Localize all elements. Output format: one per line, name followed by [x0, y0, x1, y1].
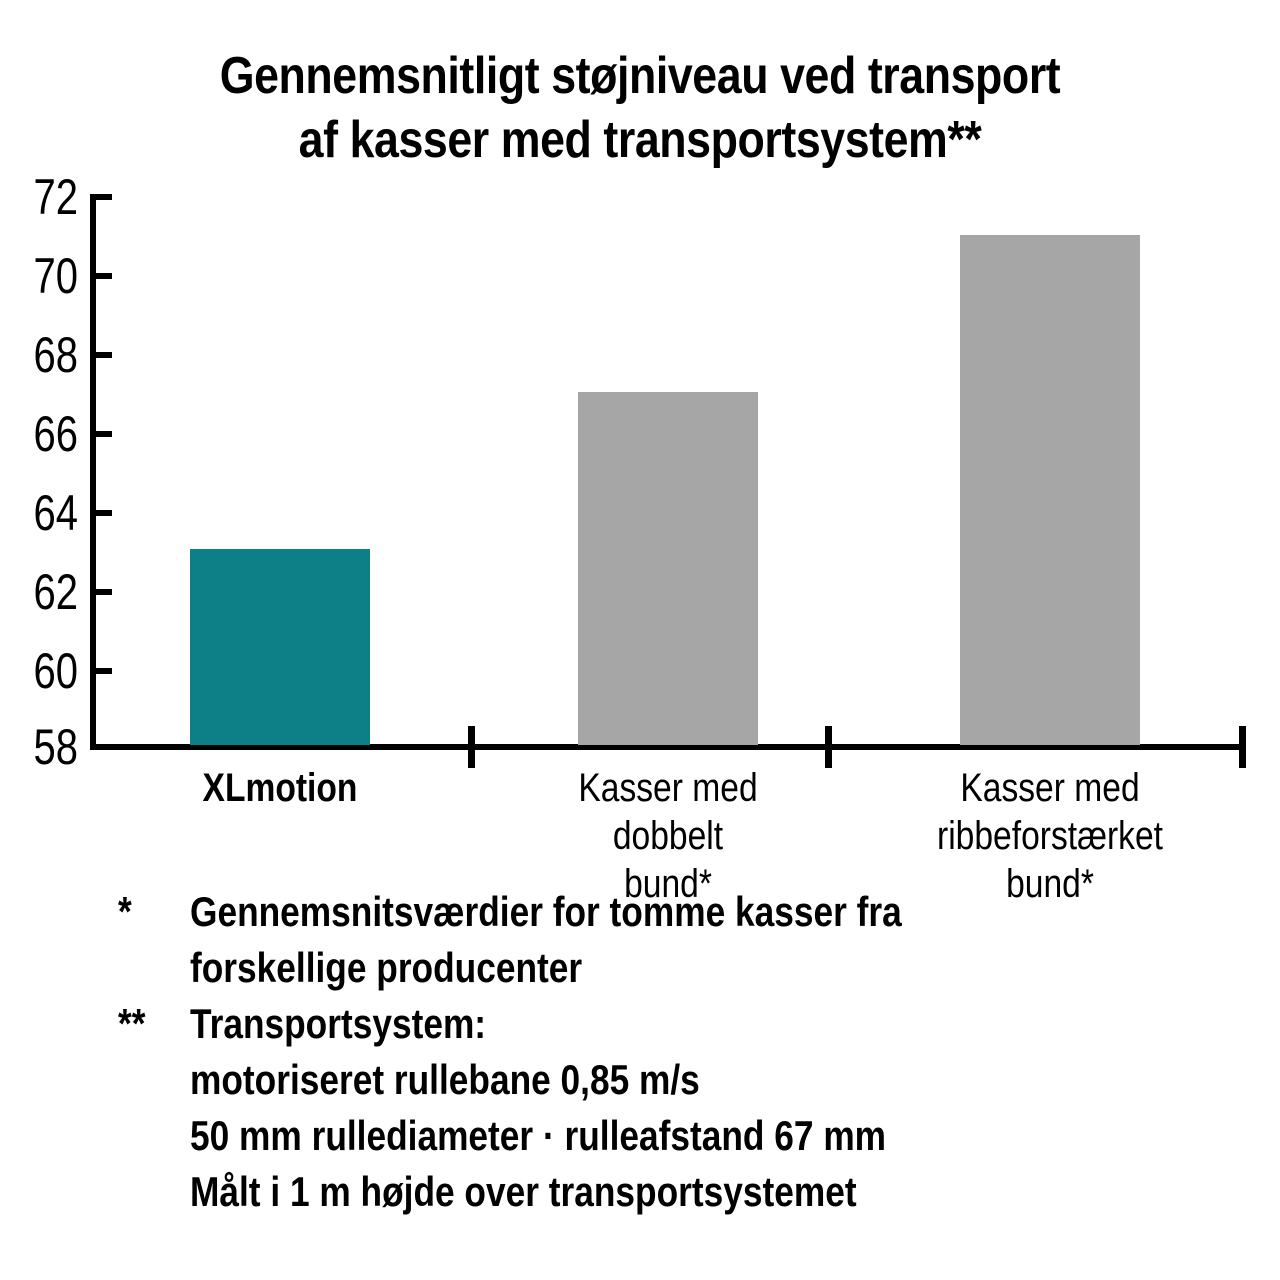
y-axis-tick-label: 58 — [27, 722, 78, 772]
y-axis-tick-label: 64 — [27, 488, 78, 538]
x-axis-tick — [825, 726, 832, 768]
y-axis-tick — [90, 510, 112, 516]
y-axis-tick — [90, 744, 112, 750]
y-axis-tick — [90, 668, 112, 674]
bar-xlmotion — [190, 549, 370, 745]
y-axis-tick-label: 70 — [27, 251, 78, 301]
y-axis-tick — [90, 194, 112, 200]
bar-kasser-ribbeforstaerket-bund — [960, 235, 1140, 745]
x-axis-tick — [1239, 726, 1246, 768]
footnotes-block: * Gennemsnitsværdier for tomme kasser fr… — [118, 884, 1168, 1220]
x-axis-tick — [468, 726, 475, 768]
y-axis-tick — [90, 589, 112, 595]
y-axis-tick-label: 60 — [27, 646, 78, 696]
bar-kasser-dobbelt-bund — [578, 392, 758, 745]
y-axis-tick-label: 66 — [27, 409, 78, 459]
y-axis-tick-label: 62 — [27, 567, 78, 617]
x-axis-category-label-xlmotion: XLmotion — [171, 764, 389, 812]
y-axis-line — [90, 196, 96, 750]
footnote-marker: * — [118, 884, 178, 940]
y-axis-tick — [90, 431, 112, 437]
footnote-text: Transportsystem: motoriseret rullebane 0… — [190, 996, 1012, 1220]
y-axis-tick — [90, 352, 112, 358]
footnote-row: * Gennemsnitsværdier for tomme kasser fr… — [118, 884, 1168, 996]
y-axis-tick-label: 68 — [27, 330, 78, 380]
chart-title: Gennemsnitligt støjniveau ved transport … — [90, 44, 1191, 172]
footnote-text: Gennemsnitsværdier for tomme kasser fra … — [190, 884, 1012, 996]
footnote-marker: ** — [118, 996, 178, 1052]
y-axis-tick-label: 72 — [27, 172, 78, 222]
y-axis-tick — [90, 273, 112, 279]
footnote-row: ** Transportsystem: motoriseret rulleban… — [118, 996, 1168, 1220]
